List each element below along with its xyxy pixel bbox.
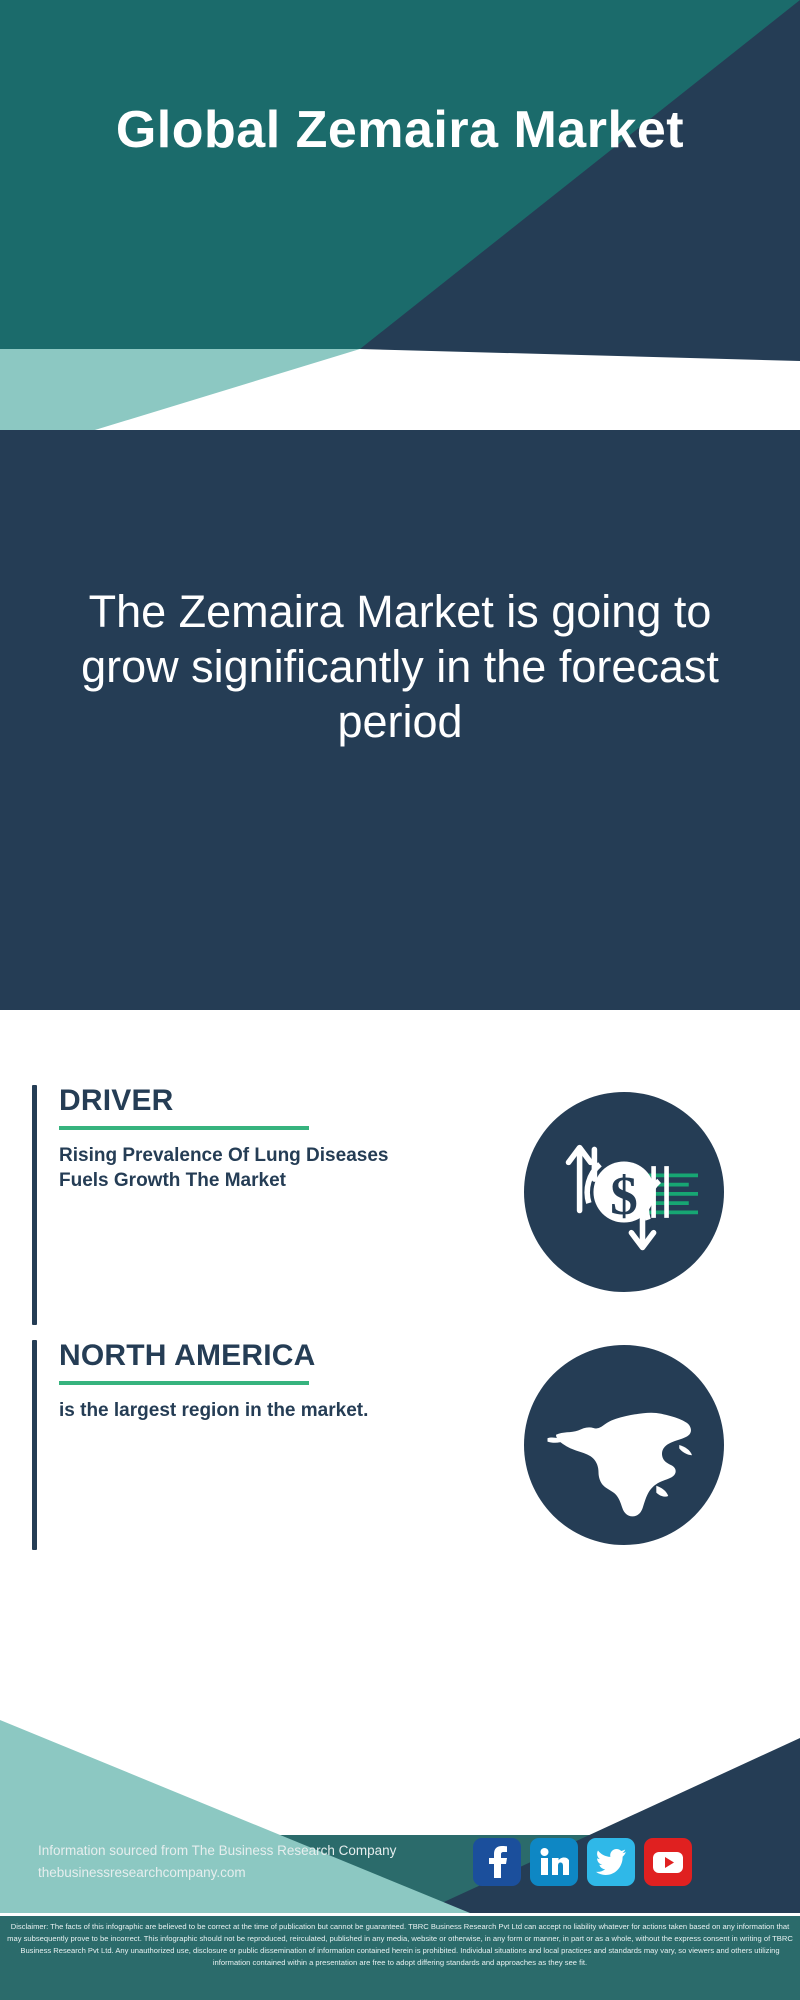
content-area: DRIVER Rising Prevalence Of Lung Disease… [0,1010,800,1660]
footer-source-line-1: Information sourced from The Business Re… [38,1840,468,1862]
twitter-icon[interactable] [587,1838,635,1886]
section-north-america: NORTH AMERICA is the largest region in t… [32,1340,452,1550]
disclaimer-text: Disclaimer: The facts of this infographi… [0,1916,800,1969]
section-blurb-driver: Rising Prevalence Of Lung Diseases Fuels… [59,1143,432,1194]
linkedin-icon[interactable] [530,1838,578,1886]
linkedin-glyph [539,1847,569,1877]
section-driver: DRIVER Rising Prevalence Of Lung Disease… [32,1085,432,1325]
svg-text:$: $ [610,1166,638,1227]
hero-headline: The Zemaira Market is going to grow sign… [60,585,740,750]
footer: Information sourced from The Business Re… [0,1660,800,2000]
twitter-glyph [596,1849,626,1875]
footer-source: Information sourced from The Business Re… [38,1840,468,1883]
facebook-icon[interactable] [473,1838,521,1886]
footer-source-line-2[interactable]: thebusinessresearchcompany.com [38,1862,468,1884]
section-kicker-north-america: NORTH AMERICA [59,1340,452,1372]
social-links [473,1838,692,1886]
section-underline [59,1381,309,1385]
dollar-growth-glyph: $ [550,1118,698,1266]
hero-section: The Zemaira Market is going to grow sign… [0,430,800,1010]
facebook-glyph [484,1846,510,1878]
city-skyline-icon [0,430,800,520]
header-banner: Global Zemaira Market [0,0,800,349]
section-underline [59,1126,309,1130]
youtube-icon[interactable] [644,1838,692,1886]
north-america-map-glyph [539,1360,709,1530]
section-kicker-driver: DRIVER [59,1085,432,1117]
disclaimer-bar: Disclaimer: The facts of this infographi… [0,1913,800,2000]
infographic-page: Global Zemaira Market The Zemaira Market… [0,0,800,2000]
page-title: Global Zemaira Market [0,0,800,349]
north-america-map-icon [524,1345,724,1545]
section-blurb-north-america: is the largest region in the market. [59,1398,452,1424]
dollar-growth-icon: $ [524,1092,724,1292]
footer-content: Information sourced from The Business Re… [0,1660,800,2000]
youtube-glyph [652,1851,684,1874]
